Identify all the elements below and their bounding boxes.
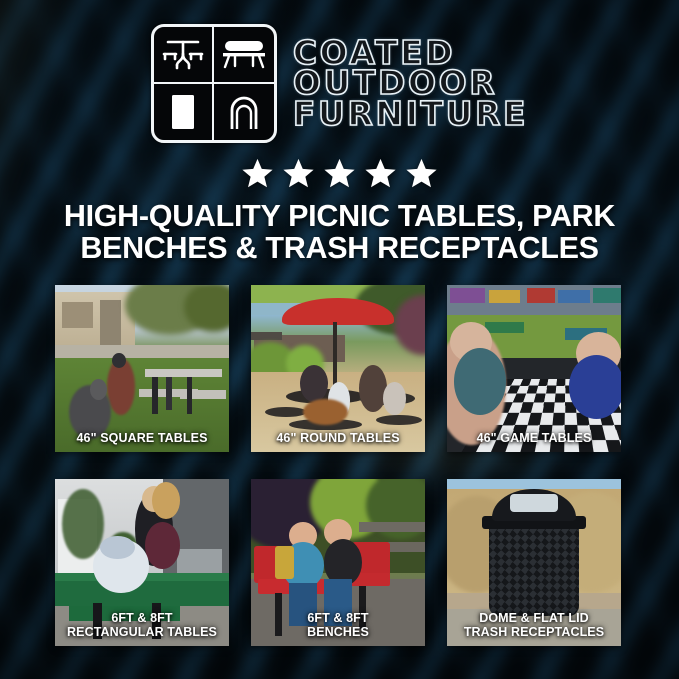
product-tile-rectangular-tables[interactable]: 6FT & 8FT RECTANGULAR TABLES: [55, 479, 229, 646]
product-grid: 46" SQUARE TABLES: [55, 285, 625, 646]
caption-line-1: DOME & FLAT LID: [447, 612, 621, 626]
caption-line-2: BENCHES: [251, 626, 425, 640]
caption-line-1: 46" ROUND TABLES: [251, 432, 425, 446]
product-photo-game-tables: 46" GAME TABLES: [447, 285, 621, 452]
product-caption: 46" GAME TABLES: [447, 432, 621, 446]
caption-line-2: RECTANGULAR TABLES: [55, 626, 229, 640]
caption-line-1: 46" SQUARE TABLES: [55, 432, 229, 446]
caption-line-1: 46" GAME TABLES: [447, 432, 621, 446]
logo-icon-grid: [151, 24, 277, 143]
headline-line-1: HIGH-QUALITY PICNIC TABLES, PARK: [24, 200, 655, 232]
page-title: HIGH-QUALITY PICNIC TABLES, PARK BENCHES…: [24, 200, 655, 265]
product-caption: 6FT & 8FT BENCHES: [251, 612, 425, 639]
caption-line-1: 6FT & 8FT: [55, 612, 229, 626]
product-photo-rectangular-tables: 6FT & 8FT RECTANGULAR TABLES: [55, 479, 229, 646]
bench-icon: [214, 27, 274, 84]
brand-logo: COATED OUTDOOR FURNITURE: [0, 24, 679, 143]
product-photo-square-tables: 46" SQUARE TABLES: [55, 285, 229, 452]
product-tile-round-tables[interactable]: 46" ROUND TABLES: [251, 285, 425, 452]
brand-wordmark: COATED OUTDOOR FURNITURE: [293, 38, 528, 129]
star-icon: [405, 157, 438, 190]
star-icon: [241, 157, 274, 190]
product-tile-benches[interactable]: 6FT & 8FT BENCHES: [251, 479, 425, 646]
bike-rack-icon: [214, 84, 274, 141]
star-icon: [364, 157, 397, 190]
product-photo-benches: 6FT & 8FT BENCHES: [251, 479, 425, 646]
product-tile-game-tables[interactable]: 46" GAME TABLES: [447, 285, 621, 452]
product-caption: 6FT & 8FT RECTANGULAR TABLES: [55, 612, 229, 639]
product-photo-round-tables: 46" ROUND TABLES: [251, 285, 425, 452]
headline-line-2: BENCHES & TRASH RECEPTACLES: [24, 232, 655, 264]
picnic-table-icon: [154, 27, 214, 84]
product-photo-trash-receptacles: DOME & FLAT LID TRASH RECEPTACLES: [447, 479, 621, 646]
star-icon: [323, 157, 356, 190]
wordmark-line-3: FURNITURE: [293, 99, 528, 129]
star-rating: [0, 157, 679, 190]
star-icon: [282, 157, 315, 190]
product-caption: 46" ROUND TABLES: [251, 432, 425, 446]
trash-receptacle-icon: [154, 84, 214, 141]
caption-line-2: TRASH RECEPTACLES: [447, 626, 621, 640]
product-caption: DOME & FLAT LID TRASH RECEPTACLES: [447, 612, 621, 639]
product-tile-trash-receptacles[interactable]: DOME & FLAT LID TRASH RECEPTACLES: [447, 479, 621, 646]
promotional-banner: COATED OUTDOOR FURNITURE HIGH-QUALITY PI…: [0, 0, 679, 679]
product-tile-square-tables[interactable]: 46" SQUARE TABLES: [55, 285, 229, 452]
product-caption: 46" SQUARE TABLES: [55, 432, 229, 446]
caption-line-1: 6FT & 8FT: [251, 612, 425, 626]
